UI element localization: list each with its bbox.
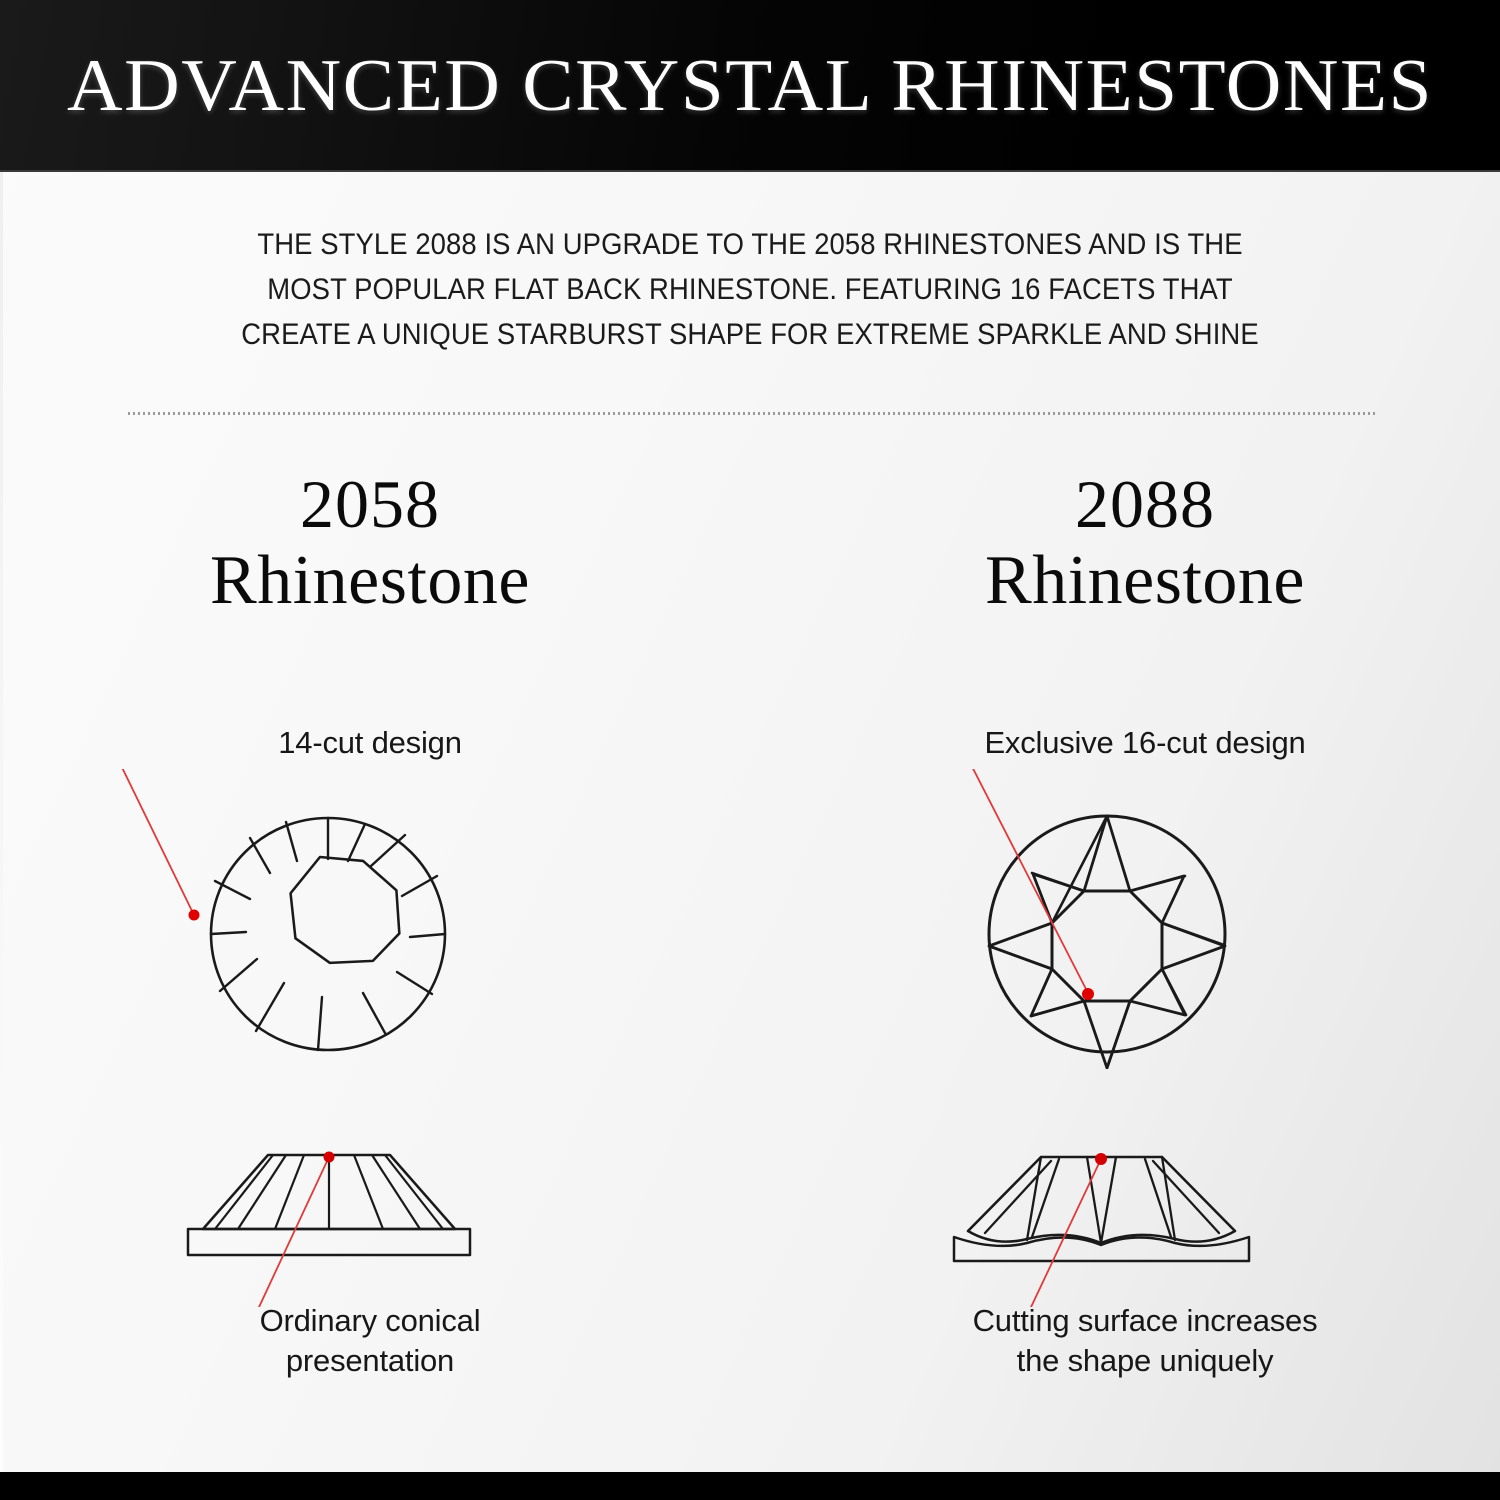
diagram-2058-side-view <box>60 1147 680 1287</box>
style-word-2088: Rhinestone <box>835 545 1455 616</box>
pointer-dot-2088 <box>1082 988 1094 1000</box>
caption-2088: Cutting surface increases the shape uniq… <box>835 1301 1455 1381</box>
intro-line-2: MOST POPULAR FLAT BACK RHINESTONE. FEATU… <box>155 267 1345 312</box>
column-style-2058: 2058 Rhinestone 14-cut design <box>60 470 680 1381</box>
caption-2058-line-2: presentation <box>60 1341 680 1381</box>
dotted-divider <box>128 412 1376 415</box>
star-points <box>989 816 1225 1068</box>
infographic-page: ADVANCED CRYSTAL RHINESTONES THE STYLE 2… <box>0 0 1500 1500</box>
svg-2058-top-view <box>60 769 680 1069</box>
caption-2058: Ordinary conical presentation <box>60 1301 680 1381</box>
pointer-line-2058 <box>114 769 193 913</box>
header-bottom-rule <box>0 170 1500 172</box>
vertex-spokes <box>989 816 1224 1068</box>
style-number-2088: 2088 <box>835 470 1455 539</box>
diagram-2058-top-view <box>60 769 680 1069</box>
diagram-2088-top-view <box>835 769 1455 1069</box>
intro-paragraph: THE STYLE 2088 IS AN UPGRADE TO THE 2058… <box>155 222 1345 357</box>
table-octagon <box>1052 891 1162 1001</box>
header-banner: ADVANCED CRYSTAL RHINESTONES <box>0 0 1500 172</box>
intro-line-1: THE STYLE 2088 IS AN UPGRADE TO THE 2058… <box>155 222 1345 267</box>
crown-facet-lines <box>215 1155 443 1229</box>
pointer-dot-2088-side <box>1095 1153 1107 1165</box>
callout-14-cut-design: 14-cut design <box>60 725 680 761</box>
style-word-2058: Rhinestone <box>60 545 680 616</box>
heading-2058: 2058 Rhinestone <box>60 470 680 617</box>
pointer-dot-2058 <box>189 909 200 920</box>
crown-outline <box>968 1157 1235 1243</box>
pointer-dot-2058-side <box>324 1151 335 1162</box>
diagram-2088-side-view <box>835 1147 1455 1287</box>
table-octagon <box>291 857 400 963</box>
caption-2088-line-1: Cutting surface increases <box>835 1301 1455 1341</box>
pointer-line-2058-side <box>246 1157 329 1307</box>
base-slab <box>188 1229 470 1255</box>
left-edge-highlight <box>0 172 3 1472</box>
svg-2088-side-view <box>835 1147 1455 1307</box>
caption-2058-line-1: Ordinary conical <box>60 1301 680 1341</box>
style-number-2058: 2058 <box>60 470 680 539</box>
intro-line-3: CREATE A UNIQUE STARBURST SHAPE FOR EXTR… <box>155 312 1345 357</box>
column-style-2088: 2088 Rhinestone Exclusive 16-cut design <box>835 470 1455 1381</box>
footer-bar <box>0 1472 1500 1500</box>
callout-16-cut-design: Exclusive 16-cut design <box>835 725 1455 761</box>
caption-2088-line-2: the shape uniquely <box>835 1341 1455 1381</box>
heading-2088: 2088 Rhinestone <box>835 470 1455 617</box>
svg-2058-side-view <box>60 1147 680 1307</box>
page-title: ADVANCED CRYSTAL RHINESTONES <box>0 0 1500 172</box>
crown-facet-lines <box>968 1157 1235 1243</box>
svg-2088-top-view <box>835 769 1455 1069</box>
